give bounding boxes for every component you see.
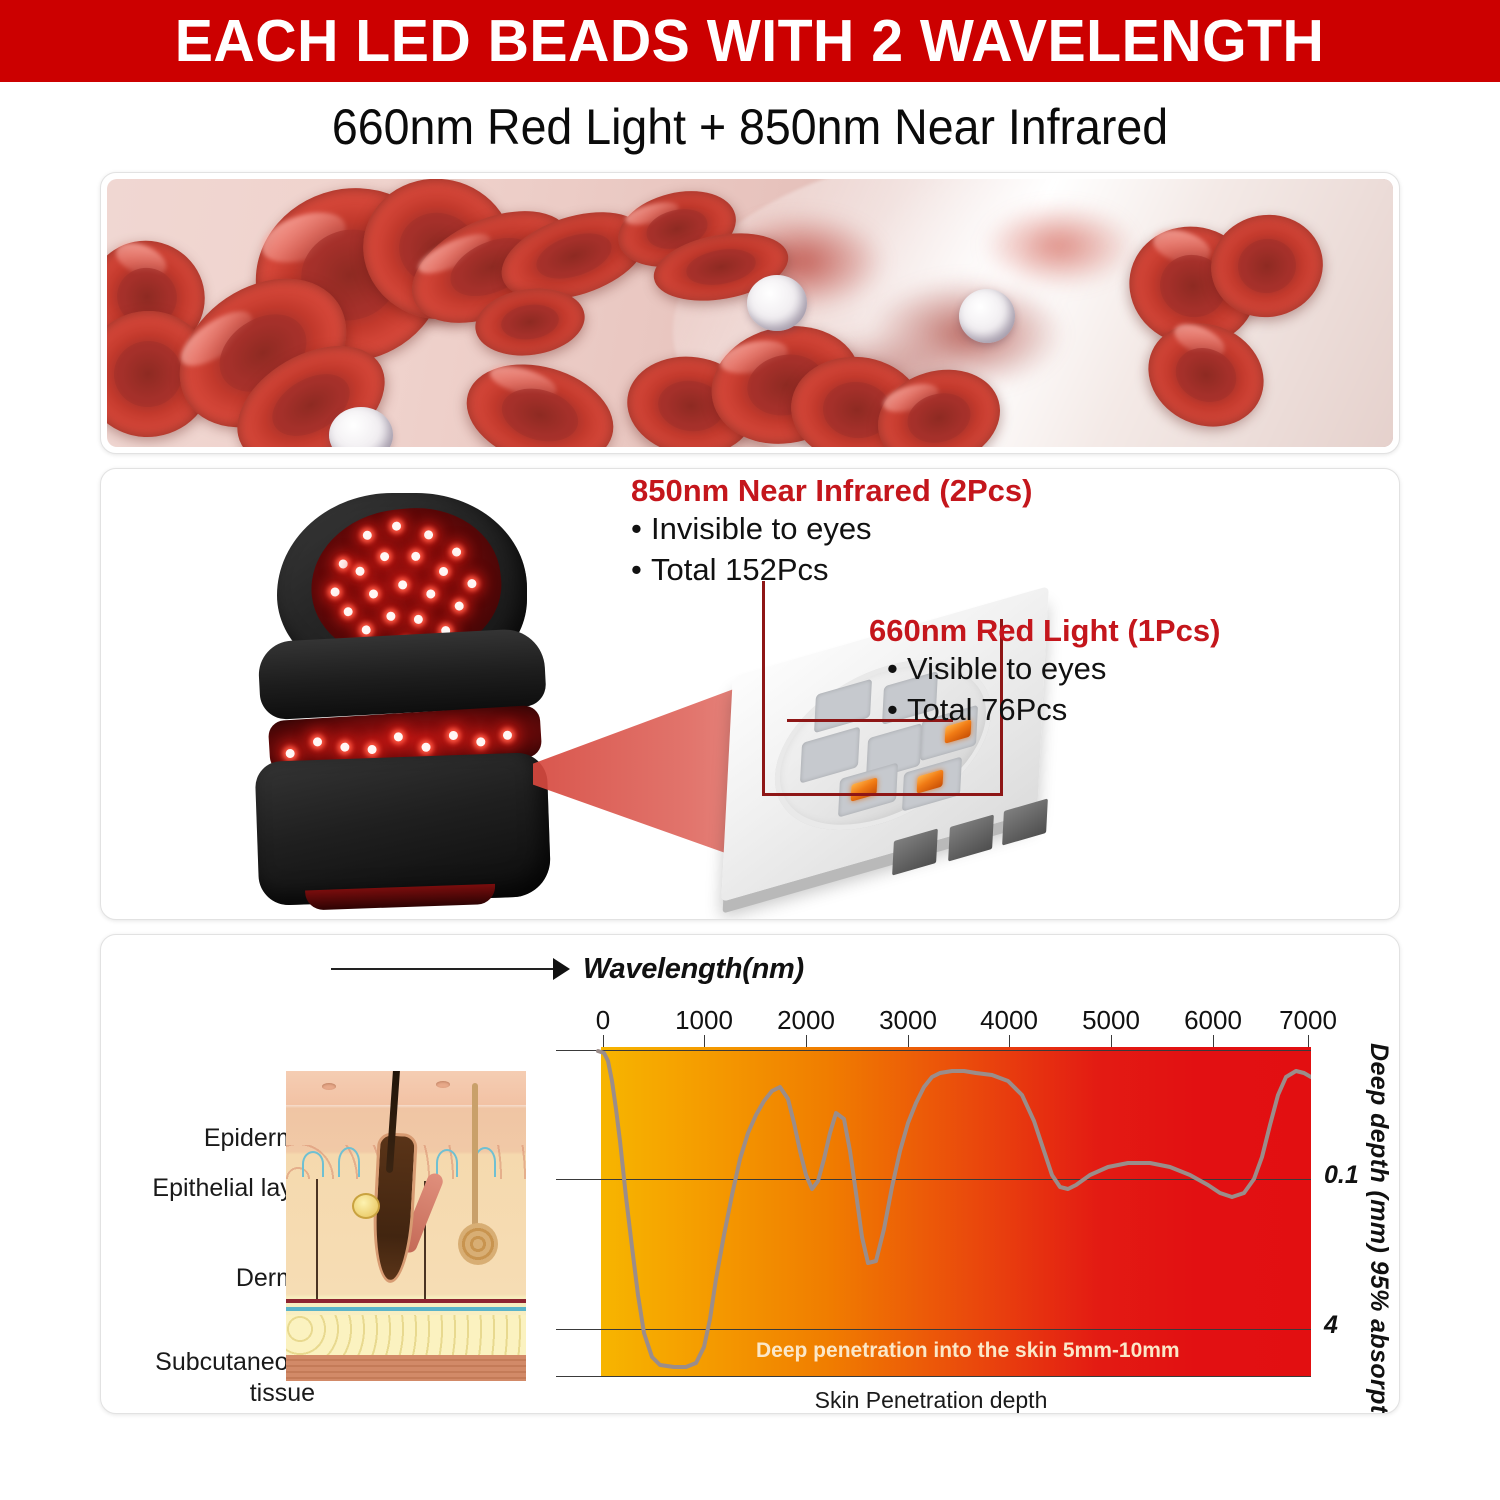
red-blood-cell bbox=[455, 348, 626, 447]
y-axis-title: Deep depth (mm) 95% absorption bbox=[1364, 1043, 1393, 1414]
penetration-plot: 0 1000 2000 3000 4000 5000 6000 7000 bbox=[556, 1047, 1311, 1377]
x-tick-label: 7000 bbox=[1279, 1005, 1337, 1036]
white-blood-cell bbox=[959, 289, 1015, 343]
y-tick-label-0-1: 0.1 bbox=[1324, 1161, 1359, 1190]
skin-pore bbox=[322, 1083, 336, 1090]
page-subtitle: 660nm Red Light + 850nm Near Infrared bbox=[53, 92, 1448, 162]
callout-660nm-title: 660nm Red Light (1Pcs) bbox=[869, 613, 1220, 649]
x-tick-label: 2000 bbox=[777, 1005, 835, 1036]
page-title: EACH LED BEADS WITH 2 WAVELENGTH bbox=[175, 7, 1325, 75]
skin-cross-section-illustration bbox=[286, 1071, 526, 1381]
callout-660nm: 660nm Red Light (1Pcs) •Visible to eyes … bbox=[869, 613, 1220, 731]
penetration-chart-panel: Epidermis Epithelial layer Dermis Subcut… bbox=[100, 934, 1400, 1414]
y-tick-label-4: 4 bbox=[1324, 1311, 1338, 1340]
x-axis-title: Wavelength(nm) bbox=[583, 953, 804, 986]
blood-cells-panel bbox=[100, 172, 1400, 454]
capillary-loop bbox=[338, 1147, 360, 1177]
sweat-duct bbox=[472, 1083, 478, 1231]
callout-660nm-bullet-2: •Total 76Pcs bbox=[869, 690, 1220, 731]
callout-850nm-title: 850nm Near Infrared (2Pcs) bbox=[631, 473, 1032, 509]
header-banner: EACH LED BEADS WITH 2 WAVELENGTH bbox=[0, 0, 1500, 82]
device-led-panel: 850nm Near Infrared (2Pcs) •Invisible to… bbox=[100, 468, 1400, 920]
sweat-gland bbox=[458, 1223, 498, 1265]
callout-850nm-bullet-2: •Total 152Pcs bbox=[631, 550, 1032, 591]
x-tick-label: 6000 bbox=[1184, 1005, 1242, 1036]
skin-pore bbox=[436, 1081, 450, 1088]
knee-wrap-lower-strap bbox=[255, 752, 552, 906]
knee-wrap-device bbox=[251, 485, 551, 905]
capillary-loop bbox=[302, 1151, 324, 1177]
x-tick-label: 3000 bbox=[879, 1005, 937, 1036]
x-tick-label: 5000 bbox=[1082, 1005, 1140, 1036]
x-tick-label: 0 bbox=[596, 1005, 610, 1036]
capillary-loop bbox=[436, 1149, 458, 1177]
infographic-page: EACH LED BEADS WITH 2 WAVELENGTH 660nm R… bbox=[0, 0, 1500, 1500]
callout-850nm-bullet-1: •Invisible to eyes bbox=[631, 509, 1032, 550]
penetration-curve bbox=[556, 1047, 1311, 1377]
callout-850nm: 850nm Near Infrared (2Pcs) •Invisible to… bbox=[631, 473, 1032, 591]
callout-660nm-bullet-1: •Visible to eyes bbox=[869, 649, 1220, 690]
blood-vessel-artery bbox=[286, 1299, 526, 1303]
leader-line-nir-vertical bbox=[762, 581, 765, 795]
skin-layer-labels: Epidermis Epithelial layer Dermis Subcut… bbox=[115, 935, 315, 1414]
x-tick-label: 4000 bbox=[980, 1005, 1038, 1036]
blood-vessel-vein bbox=[286, 1307, 526, 1311]
muscle-layer bbox=[286, 1355, 526, 1381]
x-axis-caption: Skin Penetration depth bbox=[815, 1387, 1048, 1414]
sebaceous-gland bbox=[352, 1193, 380, 1219]
wavelength-arrow-head bbox=[553, 958, 570, 980]
leader-line-red-horizontal bbox=[937, 793, 1003, 796]
nerve-fiber bbox=[316, 1179, 318, 1303]
white-blood-cell bbox=[747, 275, 807, 331]
deep-penetration-note: Deep penetration into the skin 5mm-10mm bbox=[756, 1339, 1180, 1363]
x-tick-label: 1000 bbox=[675, 1005, 733, 1036]
red-blood-cells-image bbox=[107, 179, 1393, 447]
wavelength-arrow-line bbox=[331, 968, 556, 970]
